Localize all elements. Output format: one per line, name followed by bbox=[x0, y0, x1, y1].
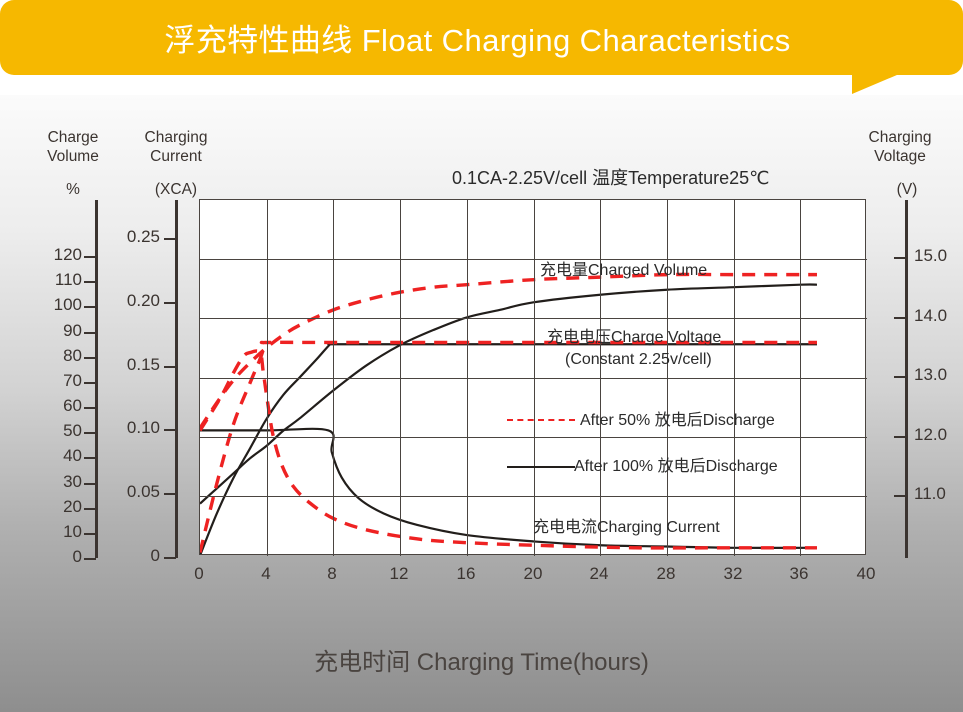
tick-label-x-axis: 28 bbox=[646, 564, 686, 584]
tick-right-axis bbox=[894, 495, 906, 497]
tick-label-x-axis: 40 bbox=[846, 564, 886, 584]
tick-label-current-axis: 0 bbox=[108, 546, 160, 566]
right-axis-unit: (V) bbox=[890, 181, 924, 199]
tick-current-axis bbox=[164, 302, 176, 304]
tick-label-left-axis: 70 bbox=[34, 371, 82, 391]
tick-label-x-axis: 16 bbox=[446, 564, 486, 584]
tick-label-x-axis: 24 bbox=[579, 564, 619, 584]
tick-right-axis bbox=[894, 317, 906, 319]
legend-swatch-after-100 bbox=[507, 466, 575, 468]
tick-label-x-axis: 0 bbox=[179, 564, 219, 584]
tick-label-left-axis: 30 bbox=[34, 472, 82, 492]
left-axis-title: Charge Volume bbox=[25, 128, 121, 166]
plot-area bbox=[199, 199, 866, 555]
tick-label-left-axis: 50 bbox=[34, 421, 82, 441]
tick-left-axis bbox=[84, 558, 96, 560]
tick-current-axis bbox=[164, 429, 176, 431]
tick-label-left-axis: 10 bbox=[34, 522, 82, 542]
left-axis-line bbox=[95, 200, 98, 558]
curve-charge-voltage-after-100-discharge bbox=[200, 343, 817, 554]
gridline-horizontal bbox=[200, 437, 867, 438]
tick-label-left-axis: 90 bbox=[34, 321, 82, 341]
gridline-horizontal bbox=[200, 259, 867, 260]
gridline-horizontal bbox=[200, 378, 867, 379]
tick-label-right-axis: 12.0 bbox=[914, 425, 960, 445]
label-charging-current: 充电电流Charging Current bbox=[533, 518, 720, 538]
label-charge-voltage-sub: (Constant 2.25v/cell) bbox=[565, 350, 712, 370]
tick-left-axis bbox=[84, 407, 96, 409]
tick-label-x-axis: 12 bbox=[379, 564, 419, 584]
gridline-horizontal bbox=[200, 318, 867, 319]
curve-layer bbox=[200, 200, 865, 554]
tick-left-axis bbox=[84, 533, 96, 535]
gridline-horizontal bbox=[200, 496, 867, 497]
right-axis-line bbox=[905, 200, 908, 558]
banner-tail-icon bbox=[852, 72, 904, 94]
tick-left-axis bbox=[84, 281, 96, 283]
tick-right-axis bbox=[894, 376, 906, 378]
x-axis-title: 充电时间 Charging Time(hours) bbox=[0, 642, 963, 677]
current-axis-title: Charging Current bbox=[128, 128, 224, 166]
header-banner: 浮充特性曲线 Float Charging Characteristics bbox=[0, 0, 963, 75]
tick-current-axis bbox=[164, 557, 176, 559]
tick-label-left-axis: 80 bbox=[34, 346, 82, 366]
tick-label-current-axis: 0.20 bbox=[108, 291, 160, 311]
curve-charging-current-after-50-discharge bbox=[200, 351, 817, 548]
tick-current-axis bbox=[164, 493, 176, 495]
tick-right-axis bbox=[894, 436, 906, 438]
right-axis-title: Charging Voltage bbox=[848, 128, 952, 166]
tick-left-axis bbox=[84, 357, 96, 359]
tick-label-current-axis: 0.10 bbox=[108, 418, 160, 438]
tick-label-left-axis: 20 bbox=[34, 497, 82, 517]
tick-label-x-axis: 8 bbox=[312, 564, 352, 584]
tick-left-axis bbox=[84, 332, 96, 334]
tick-label-right-axis: 13.0 bbox=[914, 365, 960, 385]
curve-charge-voltage-after-50-discharge bbox=[200, 342, 817, 552]
tick-label-x-axis: 20 bbox=[513, 564, 553, 584]
tick-label-right-axis: 15.0 bbox=[914, 246, 960, 266]
tick-label-current-axis: 0.15 bbox=[108, 355, 160, 375]
curve-charged-volume-after-50-discharge bbox=[200, 274, 817, 428]
tick-label-left-axis: 100 bbox=[34, 295, 82, 315]
tick-label-x-axis: 4 bbox=[246, 564, 286, 584]
legend-item-100-label: After 100% 放电后Discharge bbox=[574, 457, 778, 477]
tick-label-right-axis: 11.0 bbox=[914, 484, 960, 504]
tick-left-axis bbox=[84, 382, 96, 384]
tick-left-axis bbox=[84, 432, 96, 434]
tick-label-right-axis: 14.0 bbox=[914, 306, 960, 326]
tick-left-axis bbox=[84, 483, 96, 485]
tick-label-left-axis: 40 bbox=[34, 446, 82, 466]
tick-label-current-axis: 0.25 bbox=[108, 227, 160, 247]
curve-charging-current-after-100-discharge bbox=[200, 429, 817, 548]
left-axis-unit: % bbox=[56, 181, 90, 199]
condition-annotation: 0.1CA-2.25V/cell 温度Temperature25℃ bbox=[452, 164, 769, 190]
tick-label-current-axis: 0.05 bbox=[108, 482, 160, 502]
tick-current-axis bbox=[164, 238, 176, 240]
tick-current-axis bbox=[164, 366, 176, 368]
tick-left-axis bbox=[84, 508, 96, 510]
tick-label-left-axis: 120 bbox=[34, 245, 82, 265]
tick-label-left-axis: 0 bbox=[34, 547, 82, 567]
tick-label-left-axis: 110 bbox=[34, 270, 82, 290]
page-title: 浮充特性曲线 Float Charging Characteristics bbox=[0, 0, 963, 75]
tick-left-axis bbox=[84, 306, 96, 308]
current-axis-unit: (XCA) bbox=[142, 181, 210, 199]
tick-label-x-axis: 36 bbox=[779, 564, 819, 584]
tick-left-axis bbox=[84, 457, 96, 459]
tick-label-x-axis: 32 bbox=[713, 564, 753, 584]
tick-right-axis bbox=[894, 257, 906, 259]
legend-swatch-after-50 bbox=[507, 419, 575, 421]
current-axis-line bbox=[175, 200, 178, 558]
label-charge-voltage: 充电电压Charge Voltage bbox=[547, 328, 721, 348]
label-charged-volume: 充电量Charged Volume bbox=[540, 261, 707, 281]
tick-label-left-axis: 60 bbox=[34, 396, 82, 416]
legend-item-50-label: After 50% 放电后Discharge bbox=[580, 411, 775, 431]
tick-left-axis bbox=[84, 256, 96, 258]
